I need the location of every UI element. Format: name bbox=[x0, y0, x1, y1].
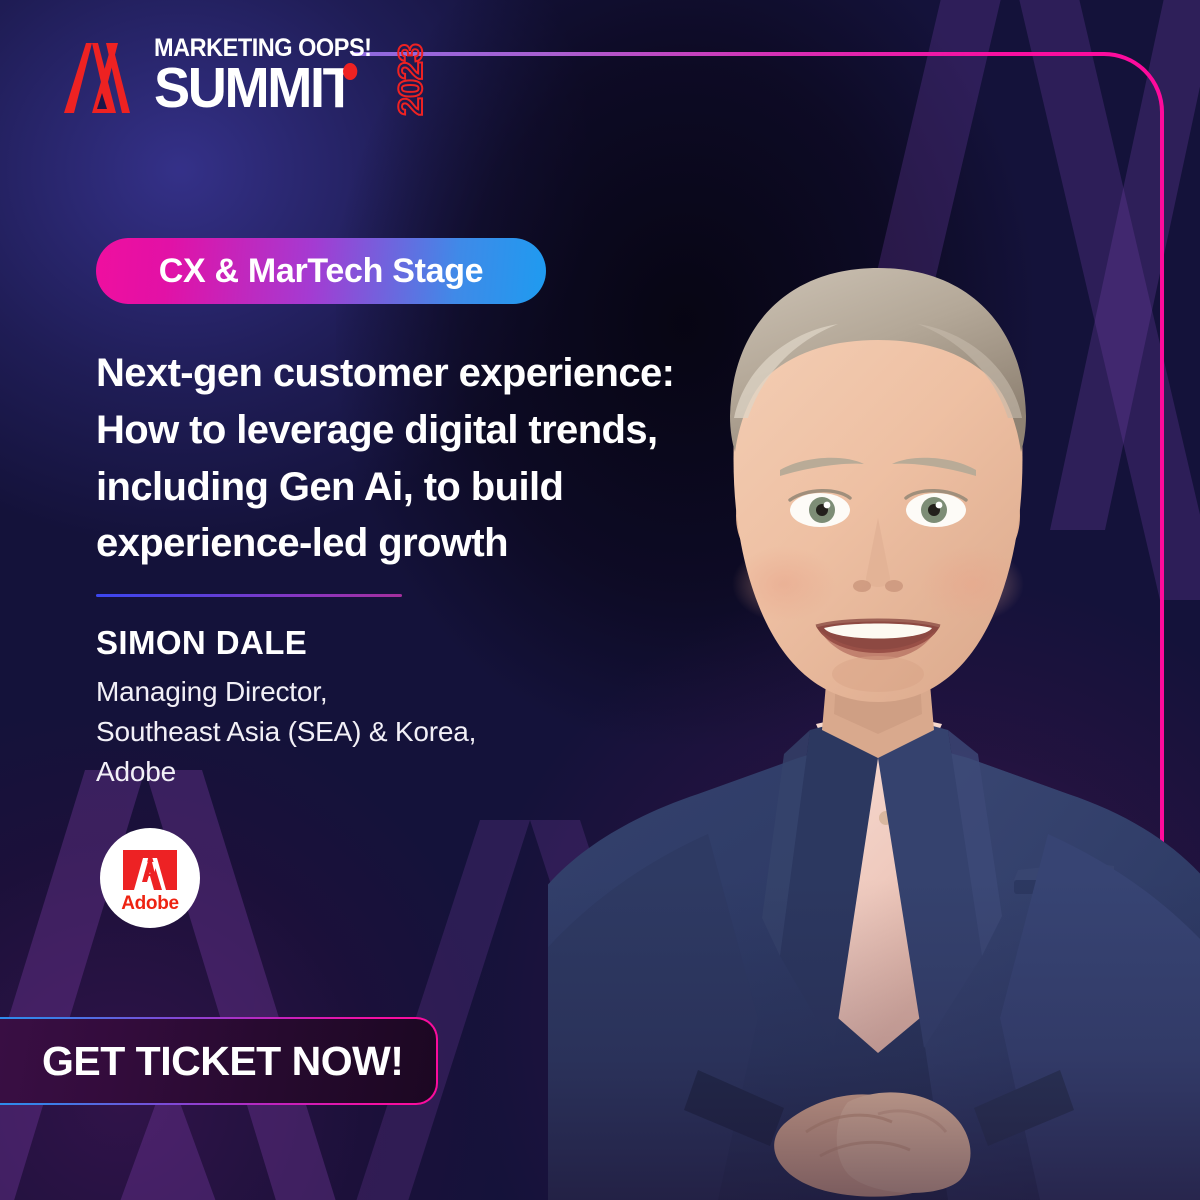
speaker-photo bbox=[548, 118, 1200, 1200]
get-ticket-button-inner[interactable]: GET TICKET NOW! bbox=[0, 1019, 436, 1103]
get-ticket-button[interactable]: GET TICKET NOW! bbox=[0, 1017, 438, 1105]
talk-title-line-4: experience-led growth bbox=[96, 515, 736, 572]
summit-m-mark-icon bbox=[58, 39, 150, 115]
company-logo: Adobe bbox=[100, 828, 200, 928]
get-ticket-label: GET TICKET NOW! bbox=[42, 1038, 403, 1085]
section-divider bbox=[96, 594, 402, 597]
speaker-role-line-2: Southeast Asia (SEA) & Korea, bbox=[96, 712, 476, 752]
adobe-a-icon bbox=[121, 848, 179, 892]
company-logo-label: Adobe bbox=[121, 894, 179, 913]
stage-badge-label: CX & MarTech Stage bbox=[159, 252, 484, 291]
speaker-announcement-poster: MARKETING OOPS! SUMMIT 2023 CX & MarTech… bbox=[0, 0, 1200, 1200]
talk-title-line-1: Next-gen customer experience: bbox=[96, 345, 736, 402]
logo-summit-word: SUMMIT bbox=[154, 56, 353, 120]
speaker-role: Managing Director, Southeast Asia (SEA) … bbox=[96, 672, 476, 792]
logo-year: 2023 bbox=[394, 44, 428, 116]
talk-title: Next-gen customer experience: How to lev… bbox=[96, 345, 736, 572]
talk-title-line-3: including Gen Ai, to build bbox=[96, 459, 736, 516]
speaker-role-line-1: Managing Director, bbox=[96, 672, 476, 712]
logo-main-text: SUMMIT bbox=[154, 62, 374, 114]
speaker-name: SIMON DALE bbox=[96, 624, 307, 662]
event-logo: MARKETING OOPS! SUMMIT 2023 bbox=[58, 33, 447, 115]
speaker-role-line-3: Adobe bbox=[96, 752, 476, 792]
talk-title-line-2: How to leverage digital trends, bbox=[96, 402, 736, 459]
stage-badge: CX & MarTech Stage bbox=[96, 238, 546, 304]
logo-dot-icon bbox=[343, 63, 357, 80]
